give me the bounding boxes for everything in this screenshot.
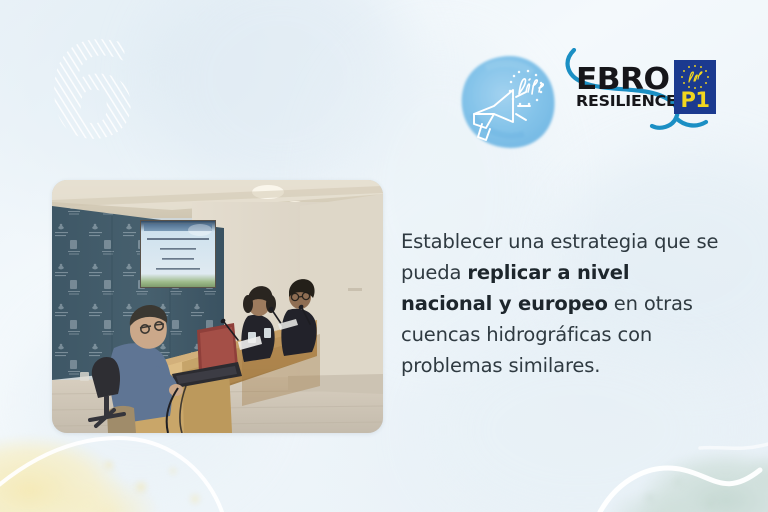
slide-canvas: 6	[0, 0, 768, 512]
logo-wordmark: EBRO RESILIENCE	[576, 66, 675, 110]
eu-badge-p1-label: P1	[674, 90, 716, 111]
panellist-one	[241, 286, 276, 362]
ebro-resilience-logo: EBRO RESILIENCE P1	[556, 48, 724, 140]
photo-contents	[52, 180, 383, 433]
conference-room-photo	[52, 180, 383, 433]
slide-number-text: 6	[46, 36, 158, 148]
eu-p1-badge: P1	[674, 60, 716, 114]
eu-badge-life-script	[689, 72, 702, 82]
logo-ebro-text: EBRO	[576, 66, 679, 93]
green-watercolor-speckles	[640, 470, 750, 512]
megaphone-watercolor-badge	[456, 52, 560, 152]
yellow-watercolor-speckles	[95, 455, 215, 512]
watercolor-circle-shape	[462, 56, 555, 148]
slide-number-graphic: 6	[46, 36, 158, 154]
body-paragraph: Establecer una estrategia que se pueda r…	[401, 226, 721, 381]
projection-screen	[140, 220, 216, 288]
body-text-block: Establecer una estrategia que se pueda r…	[401, 226, 721, 381]
logo-resilience-text: RESILIENCE	[576, 93, 677, 110]
